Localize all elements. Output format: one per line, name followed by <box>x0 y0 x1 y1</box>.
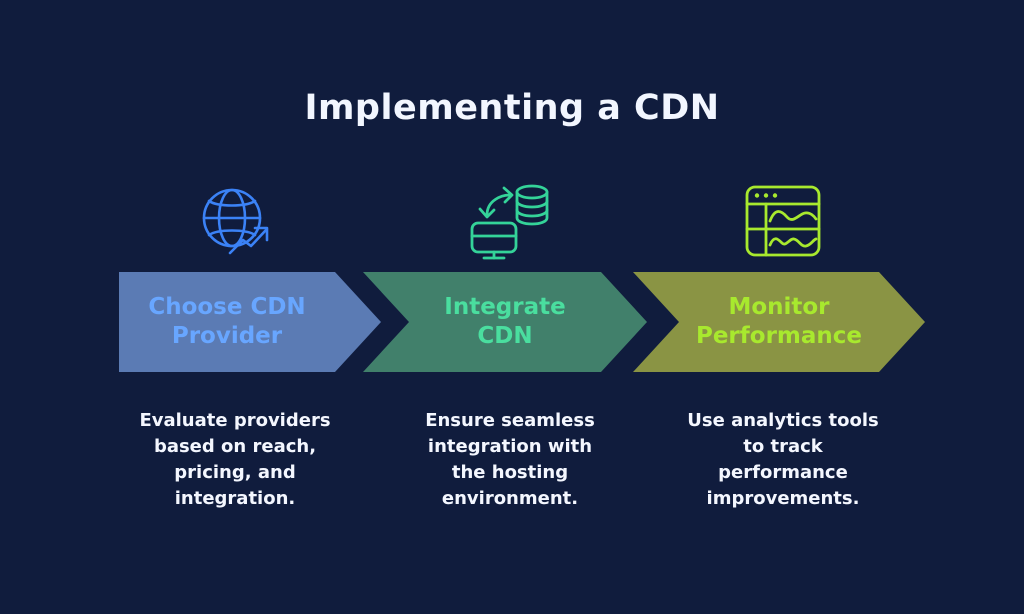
process-chevron-band: Choose CDN Provider Integrate CDN Monito… <box>0 268 1024 380</box>
chevron-step-integrate-cdn[interactable]: Integrate CDN <box>363 272 647 372</box>
step-icon-monitor-performance <box>723 178 843 264</box>
globe-growth-icon <box>196 182 274 260</box>
step-description-monitor-performance: Use analytics tools to track performance… <box>668 408 898 512</box>
chevron-shape <box>363 272 647 372</box>
step-icon-integrate-cdn <box>450 178 570 264</box>
analytics-dashboard-icon <box>743 183 823 259</box>
page-title: Implementing a CDN <box>0 88 1024 128</box>
step-description-integrate-cdn: Ensure seamless integration with the hos… <box>395 408 625 512</box>
chevron-step-choose-cdn-provider[interactable]: Choose CDN Provider <box>119 272 381 372</box>
chevron-shape <box>633 272 925 372</box>
data-sync-icon <box>468 181 552 261</box>
chevron-shape <box>119 272 381 372</box>
step-description-choose-cdn-provider: Evaluate providers based on reach, prici… <box>120 408 350 512</box>
infographic-canvas: Implementing a CDN <box>0 0 1024 614</box>
step-icon-choose-cdn-provider <box>175 178 295 264</box>
chevron-step-monitor-performance[interactable]: Monitor Performance <box>633 272 925 372</box>
